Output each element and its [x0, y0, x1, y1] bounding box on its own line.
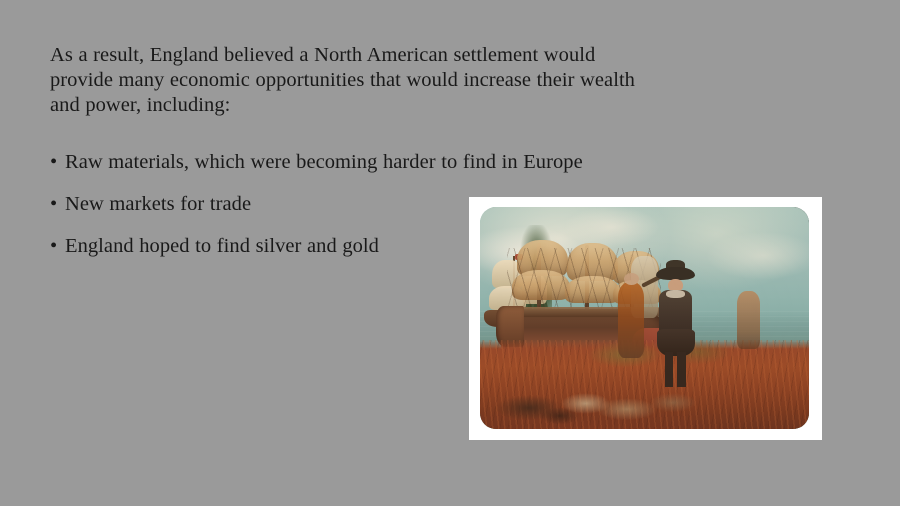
bullet-marker-icon: • — [50, 234, 57, 258]
intro-paragraph: As a result, England believed a North Am… — [50, 43, 660, 118]
bullet-item-label: New markets for trade — [65, 193, 251, 215]
bullet-marker-icon: • — [50, 192, 57, 216]
painting-vignette — [480, 207, 809, 429]
bullet-marker-icon: • — [50, 150, 57, 174]
colonial-settlement-painting — [480, 207, 809, 429]
bullet-item-label: Raw materials, which were becoming harde… — [65, 151, 583, 173]
bullet-item-label: England hoped to find silver and gold — [65, 235, 379, 257]
picture-frame — [469, 197, 822, 440]
presentation-slide: As a result, England believed a North Am… — [0, 0, 900, 506]
bullet-item-raw-materials: • Raw materials, which were becoming har… — [50, 150, 660, 174]
